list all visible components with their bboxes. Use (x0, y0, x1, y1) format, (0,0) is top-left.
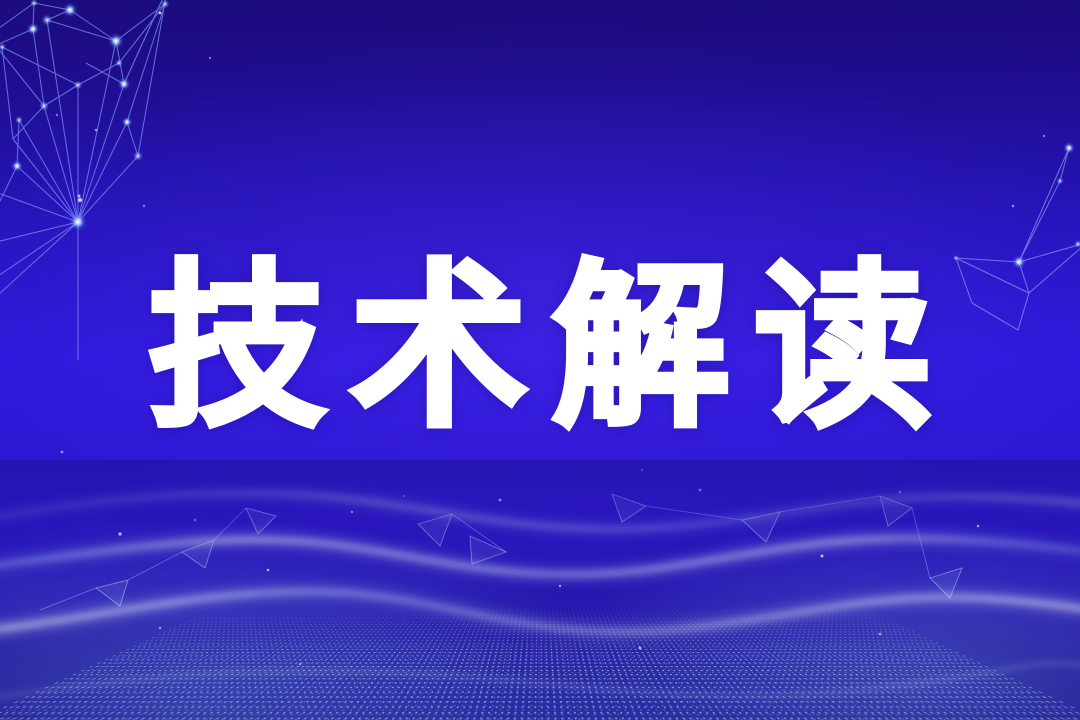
wave-ridge-foreground (0, 663, 1080, 698)
banner-canvas: 技术解读 (0, 0, 1080, 720)
wave-ridge-layer (0, 460, 1080, 720)
wave-ridge-near (0, 592, 1080, 632)
polygon-shards (96, 494, 962, 606)
headline-container: 技术解读 (0, 243, 1080, 453)
wave-ridge-mid (0, 538, 1080, 574)
page-title: 技术解读 (124, 259, 956, 437)
wave-ridge-far (0, 493, 1080, 529)
network-nodes-left (0, 0, 170, 231)
particle-wave-field (0, 460, 1080, 720)
